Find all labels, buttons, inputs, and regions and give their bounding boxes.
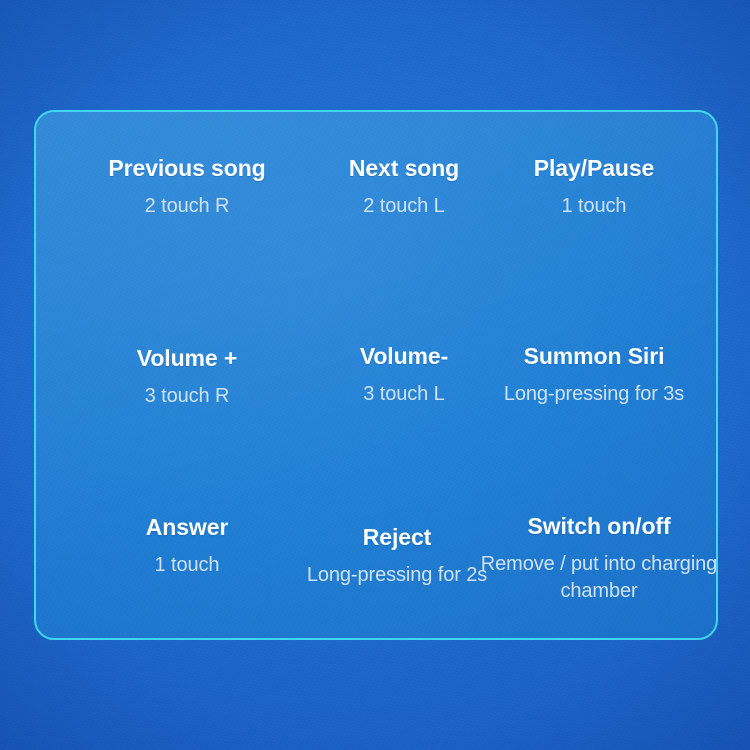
gesture-item-summon-siri: Summon Siri Long-pressing for 3s bbox=[454, 345, 718, 408]
gesture-title: Summon Siri bbox=[454, 345, 718, 368]
gesture-control-card: Previous song 2 touch R Next song 2 touc… bbox=[34, 110, 718, 640]
gesture-grid: Previous song 2 touch R Next song 2 touc… bbox=[36, 112, 716, 638]
gesture-item-play-pause: Play/Pause 1 touch bbox=[474, 157, 714, 220]
gesture-action: 1 touch bbox=[474, 193, 714, 220]
gesture-title: Switch on/off bbox=[464, 515, 718, 538]
gesture-title: Volume + bbox=[57, 347, 317, 370]
gesture-item-previous-song: Previous song 2 touch R bbox=[57, 157, 317, 220]
gesture-item-switch-on-off: Switch on/off Remove / put into charging… bbox=[464, 515, 718, 605]
gesture-title: Previous song bbox=[57, 157, 317, 180]
gesture-guide-screen: Previous song 2 touch R Next song 2 touc… bbox=[0, 0, 750, 750]
gesture-action: 3 touch R bbox=[57, 383, 317, 410]
gesture-action: Remove / put into charging chamber bbox=[464, 551, 718, 605]
gesture-action: Long-pressing for 3s bbox=[454, 381, 718, 408]
gesture-title: Play/Pause bbox=[474, 157, 714, 180]
gesture-item-volume-up: Volume + 3 touch R bbox=[57, 347, 317, 410]
gesture-action: 2 touch R bbox=[57, 193, 317, 220]
